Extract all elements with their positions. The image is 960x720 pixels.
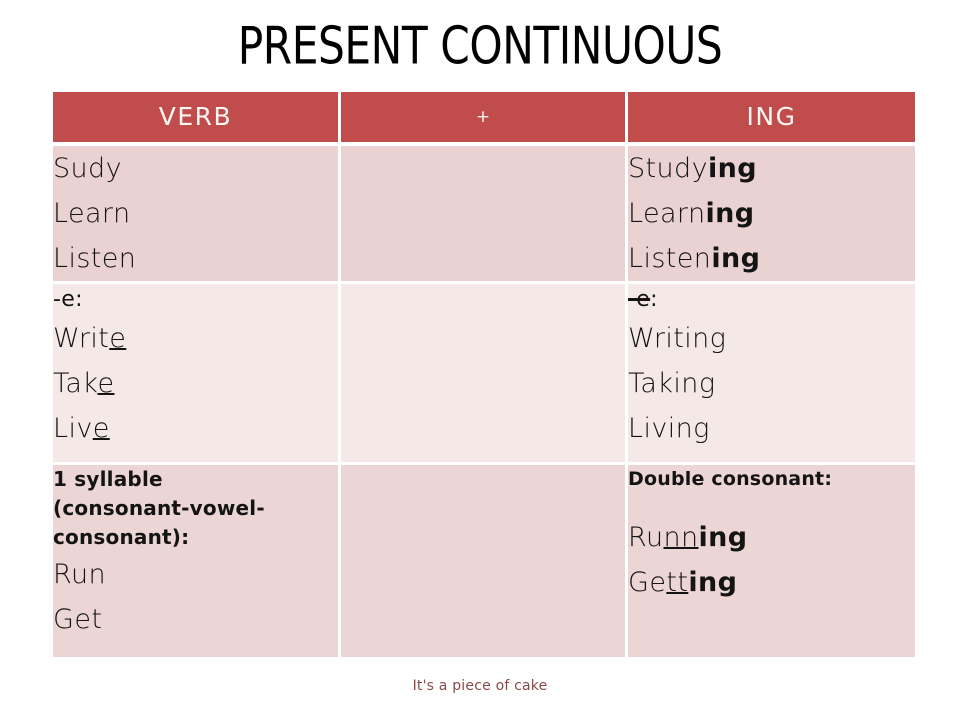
cell-verb-double-consonant: 1 syllable (consonant-vowel- consonant):… bbox=[53, 465, 341, 657]
ing-word: Getting bbox=[628, 560, 915, 605]
ing-word-suffix: ing bbox=[699, 522, 748, 553]
verb-word: Learn bbox=[53, 191, 338, 236]
spacer-line bbox=[628, 493, 915, 515]
column-header-verb: VERB bbox=[53, 92, 341, 142]
cell-plus-base bbox=[341, 146, 628, 284]
ing-word: Learning bbox=[628, 191, 915, 236]
verb-rule-line-3: consonant): bbox=[53, 523, 338, 552]
verb-word: Listen bbox=[53, 236, 338, 281]
verb-word: Write bbox=[53, 316, 338, 361]
cell-plus-double-consonant bbox=[341, 465, 628, 657]
table-row-double-consonant: 1 syllable (consonant-vowel- consonant):… bbox=[53, 465, 915, 657]
ing-rule-colon: : bbox=[650, 287, 658, 312]
table-row-drop-e: -e: Write Take Live -e: Writing Taking L… bbox=[53, 284, 915, 465]
cell-plus-drop-e bbox=[341, 284, 628, 465]
ing-word-suffix: ing bbox=[688, 567, 737, 598]
verb-word-final-e: e bbox=[97, 368, 114, 399]
ing-word: Studying bbox=[628, 146, 915, 191]
table-header-row: VERB + ING bbox=[53, 92, 915, 142]
ing-word-doubled-consonant: nn bbox=[663, 522, 698, 553]
verb-word-final-e: e bbox=[93, 413, 110, 444]
ing-rule-strikethrough: -e bbox=[628, 287, 650, 312]
ing-word-suffix: ing bbox=[711, 243, 760, 274]
verb-word: Run bbox=[53, 552, 338, 597]
cell-verb-drop-e: -e: Write Take Live bbox=[53, 284, 341, 465]
ing-word: Running bbox=[628, 515, 915, 560]
verb-rule-drop-e: -e: bbox=[53, 284, 338, 316]
verb-word: Live bbox=[53, 406, 338, 451]
ing-word-suffix: ing bbox=[708, 153, 757, 184]
ing-word-prefix: Ru bbox=[628, 522, 663, 553]
present-continuous-table: VERB + ING Sudy Learn Listen Studying Le… bbox=[53, 92, 915, 657]
ing-word: Living bbox=[628, 406, 915, 451]
table-row-base-verbs: Sudy Learn Listen Studying Learning List… bbox=[53, 146, 915, 284]
ing-word: Writing bbox=[628, 316, 915, 361]
column-header-plus: + bbox=[341, 92, 628, 142]
ing-word-stem: Listen bbox=[628, 243, 711, 274]
verb-word: Take bbox=[53, 361, 338, 406]
cell-verb-base: Sudy Learn Listen bbox=[53, 146, 341, 284]
verb-word: Get bbox=[53, 597, 338, 642]
ing-word-suffix: ing bbox=[705, 198, 754, 229]
ing-word: Taking bbox=[628, 361, 915, 406]
ing-word-doubled-consonant: tt bbox=[666, 567, 688, 598]
verb-word-head: Writ bbox=[53, 323, 109, 354]
ing-word: Listening bbox=[628, 236, 915, 281]
ing-rule-drop-e: -e: bbox=[628, 284, 915, 316]
verb-rule-line-2: (consonant-vowel- bbox=[53, 494, 338, 523]
page-title: PRESENT CONTINUOUS bbox=[38, 14, 921, 77]
verb-word: Sudy bbox=[53, 146, 338, 191]
verb-word-head: Liv bbox=[53, 413, 93, 444]
footer-note: It's a piece of cake bbox=[0, 676, 960, 696]
verb-rule-line-1: 1 syllable bbox=[53, 465, 338, 494]
verb-word-head: Tak bbox=[53, 368, 97, 399]
ing-word-stem: Learn bbox=[628, 198, 705, 229]
cell-ing-base: Studying Learning Listening bbox=[628, 146, 915, 284]
ing-word-stem: Study bbox=[628, 153, 708, 184]
column-header-ing: ING bbox=[628, 92, 915, 142]
verb-word-final-e: e bbox=[109, 323, 126, 354]
ing-word-prefix: Ge bbox=[628, 567, 666, 598]
cell-ing-double-consonant: Double consonant: Running Getting bbox=[628, 465, 915, 657]
ing-rule-double-consonant: Double consonant: bbox=[628, 465, 915, 493]
cell-ing-drop-e: -e: Writing Taking Living bbox=[628, 284, 915, 465]
